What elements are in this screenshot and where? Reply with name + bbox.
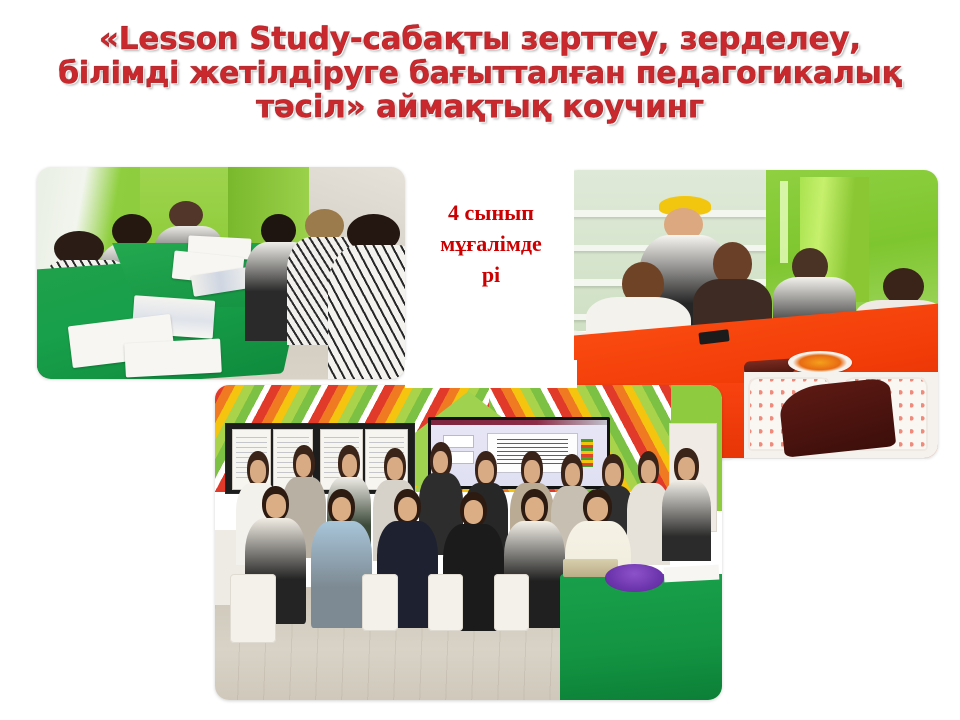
- group-scene: [215, 385, 722, 700]
- head: [169, 201, 203, 229]
- worksheet: [124, 338, 221, 377]
- white-gap-mask: [405, 155, 577, 167]
- paper-on-table: [663, 565, 719, 583]
- face: [332, 497, 351, 521]
- white-chair: [428, 574, 463, 631]
- screen-toolbar: [431, 420, 608, 426]
- face: [605, 463, 621, 486]
- teachers-round-table-photo: [37, 167, 405, 379]
- roundtable-scene: [37, 167, 405, 379]
- title-line-1: «Lesson Study-сабақты зерттеу, зерделеу,: [40, 22, 920, 57]
- title-line-3: тәсіл» аймақтық коучинг: [40, 90, 920, 125]
- face: [398, 497, 417, 521]
- person-back-row: [661, 448, 712, 561]
- face: [525, 497, 544, 521]
- person-seated-right-front: [328, 214, 405, 379]
- caption-card: 4 сынып мұғалімдері: [408, 165, 574, 377]
- green-display-table: [560, 574, 722, 700]
- white-gap-mask: [405, 360, 577, 388]
- purple-hat: [605, 564, 663, 592]
- caption-text: 4 сынып мұғалімдері: [439, 197, 543, 291]
- reflection-fade: [722, 459, 938, 531]
- white-chair: [494, 574, 529, 631]
- group-photo: [215, 385, 722, 700]
- face: [565, 463, 581, 486]
- redtable-photo-reflection: [722, 459, 938, 531]
- face: [464, 500, 483, 524]
- face: [387, 457, 403, 480]
- white-chair: [230, 574, 276, 643]
- reflection-fade: [215, 700, 722, 720]
- face: [296, 454, 312, 477]
- face: [524, 460, 540, 483]
- face: [641, 460, 657, 483]
- face: [250, 460, 266, 483]
- slide-canvas: «Lesson Study-сабақты зерттеу, зерделеу,…: [0, 0, 960, 720]
- title-line-2: білімді жетілдіруге бағытталған педагоги…: [40, 57, 920, 91]
- face: [342, 454, 358, 477]
- face: [678, 457, 695, 480]
- face: [266, 494, 285, 518]
- face: [587, 497, 608, 521]
- body: [328, 245, 405, 379]
- white-chair: [362, 574, 397, 631]
- body: [662, 480, 711, 562]
- face: [478, 460, 494, 483]
- page-title: «Lesson Study-сабақты зерттеу, зерделеу,…: [40, 22, 920, 125]
- group-photo-reflection: [215, 700, 722, 720]
